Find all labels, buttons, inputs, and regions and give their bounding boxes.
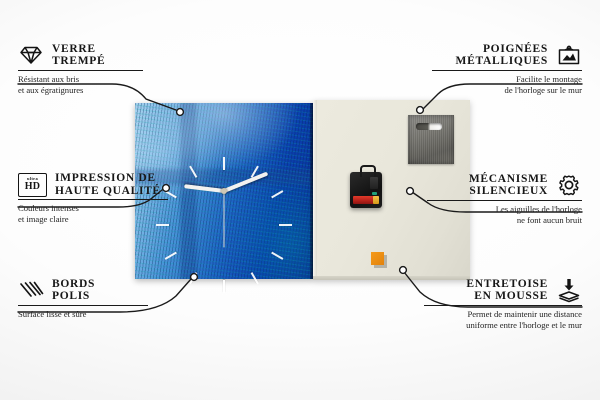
feature-header: BORDSPOLIS [18, 277, 158, 305]
clock-tick-3 [224, 224, 292, 226]
feature-description: Facilite le montage de l'horloge sur le … [427, 71, 582, 95]
feature-title: BORDSPOLIS [52, 278, 95, 303]
feature-description: Résistant aux bris et aux égratignures [18, 71, 158, 95]
feature-description: Permet de maintenir une distance uniform… [418, 306, 582, 330]
feature-mecanisme-silencieux: MÉCANISMESILENCIEUX Les aiguilles de l'h… [418, 172, 582, 225]
battery [353, 196, 379, 204]
feature-header: MÉCANISMESILENCIEUX [418, 172, 582, 200]
feature-title: VERRETREMPÉ [52, 43, 105, 68]
feature-description: Couleurs intenses et image claire [18, 200, 186, 224]
mechanism-hanging-loop [360, 165, 376, 177]
panel-left-lip [313, 100, 317, 280]
feature-header: ENTRETOISEEN MOUSSE [418, 277, 582, 305]
clock-minute-hand [223, 172, 268, 193]
ultra-hd-icon: ultra HD [18, 173, 47, 197]
infographic-canvas: VERRETREMPÉ Résistant aux bris et aux ég… [0, 0, 600, 400]
mechanism-indicator-dot [372, 192, 377, 195]
metal-hanger-plate [408, 115, 454, 164]
feature-title: MÉCANISMESILENCIEUX [418, 173, 548, 198]
clock-tick-9 [156, 224, 224, 226]
ultra-hd-icon-large-text: HD [25, 182, 41, 192]
polished-edges-icon [18, 277, 44, 303]
clock-tick-4 [224, 224, 284, 260]
feature-header: VERRETREMPÉ [18, 42, 158, 70]
feature-impression-haute-qualite: ultra HD IMPRESSION DEHAUTE QUALITÉ Coul… [18, 172, 186, 224]
mechanism-detail [370, 177, 378, 189]
clock-tick-1 [223, 166, 259, 226]
feature-entretoise-en-mousse: ENTRETOISEEN MOUSSE Permet de maintenir … [418, 277, 582, 330]
feature-poignees-metalliques: POIGNÉESMÉTALLIQUES Facilite le montage … [427, 42, 582, 95]
diamond-icon [18, 42, 44, 68]
clock-tick-5 [223, 225, 259, 285]
wall-hanger-icon [556, 42, 582, 68]
feature-title: POIGNÉESMÉTALLIQUES [427, 43, 548, 68]
feature-title: ENTRETOISEEN MOUSSE [418, 278, 548, 303]
clock-second-hand [224, 191, 225, 247]
feature-description: Surface lisse et sûre [18, 306, 158, 320]
gear-icon [556, 172, 582, 198]
feature-header: POIGNÉESMÉTALLIQUES [427, 42, 582, 70]
clock-hour-hand [184, 184, 224, 193]
feature-description: Les aiguilles de l'horloge ne font aucun… [418, 201, 582, 225]
foam-spacer [371, 252, 384, 265]
hanger-keyhole-slot [416, 123, 442, 130]
feature-verre-trempe: VERRETREMPÉ Résistant aux bris et aux ég… [18, 42, 158, 95]
feature-title: IMPRESSION DEHAUTE QUALITÉ [55, 172, 161, 197]
feature-bords-polis: BORDSPOLIS Surface lisse et sûre [18, 277, 158, 320]
battery-positive-terminal [373, 196, 379, 204]
clock-tick-2 [224, 190, 284, 226]
clock-tick-8 [165, 224, 225, 260]
clock-tick-11 [189, 166, 225, 226]
clock-tick-7 [189, 225, 225, 285]
feature-header: ultra HD IMPRESSION DEHAUTE QUALITÉ [18, 172, 186, 199]
foam-spacer-icon [556, 277, 582, 303]
clock-center-hub [221, 188, 227, 194]
clock-mechanism-box [350, 172, 382, 208]
